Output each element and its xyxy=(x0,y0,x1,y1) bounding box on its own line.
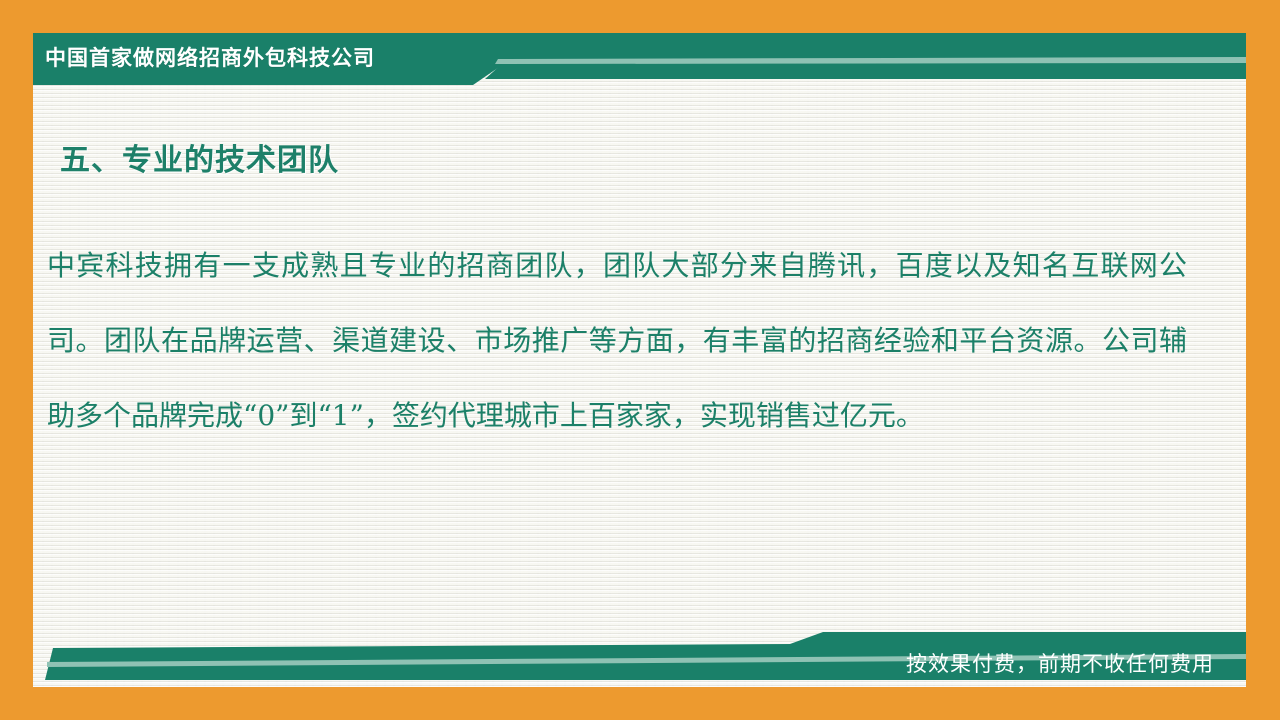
body-paragraph: 中宾科技拥有一支成熟且专业的招商团队，团队大部分来自腾讯，百度以及知名互联网公司… xyxy=(47,228,1187,453)
header-tagline: 中国首家做网络招商外包科技公司 xyxy=(45,42,375,72)
presentation-slide: 中国首家做网络招商外包科技公司 五、专业的技术团队 中宾科技拥有一支成熟且专业的… xyxy=(0,0,1280,720)
page-title: 五、专业的技术团队 xyxy=(60,135,339,179)
footer-slogan: 按效果付费，前期不收任何费用 xyxy=(906,648,1214,678)
